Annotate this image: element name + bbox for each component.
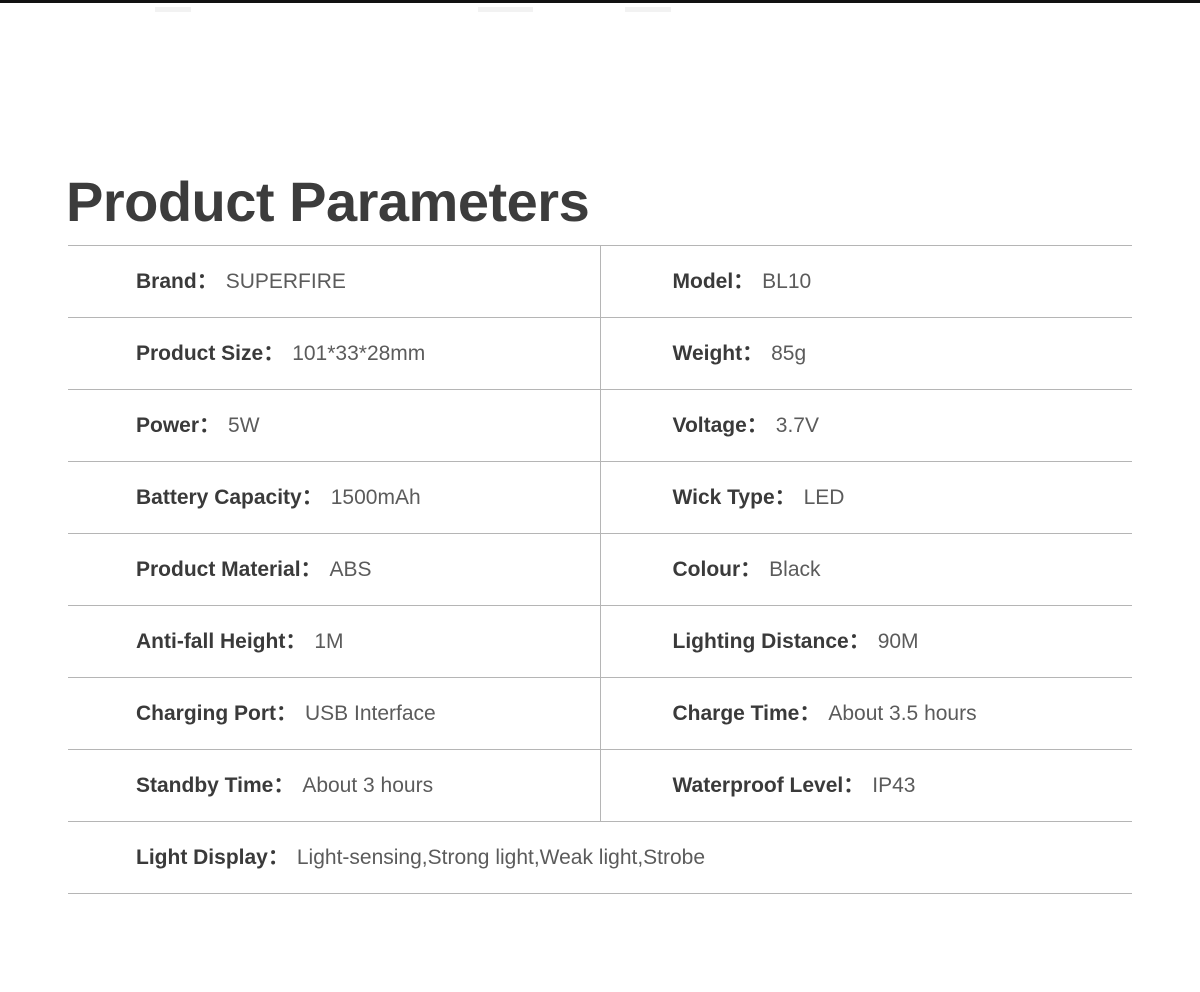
spec-pair: Wick Type：LED <box>673 485 1133 510</box>
spec-cell-charging-port: Charging Port：USB Interface <box>68 678 600 750</box>
spec-colon: ： <box>843 774 872 797</box>
spec-pair: Standby Time：About 3 hours <box>136 773 600 798</box>
spec-pair: Product Material：ABS <box>136 557 600 582</box>
spec-pair: Lighting Distance：90M <box>673 629 1133 654</box>
spec-pair: Light Display：Light-sensing,Strong light… <box>136 845 1132 870</box>
spec-pair: Battery Capacity：1500mAh <box>136 485 600 510</box>
spec-label: Waterproof Level <box>673 774 844 797</box>
spec-label: Anti-fall Height <box>136 630 285 653</box>
spec-colon: ： <box>742 342 771 365</box>
spec-colon: ： <box>268 846 297 869</box>
spec-pair: Weight：85g <box>673 341 1133 366</box>
spec-cell-lighting-distance: Lighting Distance：90M <box>600 606 1132 678</box>
specification-table: Brand：SUPERFIRE Model：BL10 Product Size：… <box>68 245 1132 894</box>
spec-colon: ： <box>263 342 292 365</box>
spec-label: Product Material <box>136 558 301 581</box>
spec-colon: ： <box>740 558 769 581</box>
spec-cell-brand: Brand：SUPERFIRE <box>68 246 600 318</box>
spec-label: Charging Port <box>136 702 276 725</box>
spec-value: Light-sensing,Strong light,Weak light,St… <box>297 846 705 869</box>
spec-value: 90M <box>878 630 919 653</box>
spec-label: Standby Time <box>136 774 273 797</box>
spec-label: Colour <box>673 558 741 581</box>
table-row: Battery Capacity：1500mAh Wick Type：LED <box>68 462 1132 534</box>
spec-colon: ： <box>285 630 314 653</box>
spec-value: 1M <box>314 630 343 653</box>
spec-label: Voltage <box>673 414 747 437</box>
spec-pair: Brand：SUPERFIRE <box>136 269 600 294</box>
table-row: Light Display：Light-sensing,Strong light… <box>68 822 1132 894</box>
spec-colon: ： <box>775 486 804 509</box>
spec-cell-voltage: Voltage：3.7V <box>600 390 1132 462</box>
spec-cell-battery-capacity: Battery Capacity：1500mAh <box>68 462 600 534</box>
spec-cell-weight: Weight：85g <box>600 318 1132 390</box>
spec-cell-wick-type: Wick Type：LED <box>600 462 1132 534</box>
spec-cell-waterproof-level: Waterproof Level：IP43 <box>600 750 1132 822</box>
spec-colon: ： <box>199 414 228 437</box>
spec-label: Weight <box>673 342 743 365</box>
spec-value: 5W <box>228 414 260 437</box>
spec-value: 3.7V <box>776 414 819 437</box>
spec-label: Model <box>673 270 734 293</box>
spec-pair: Model：BL10 <box>673 269 1133 294</box>
spec-pair: Waterproof Level：IP43 <box>673 773 1133 798</box>
spec-colon: ： <box>301 558 330 581</box>
spec-colon: ： <box>799 702 828 725</box>
spec-pair: Anti-fall Height：1M <box>136 629 600 654</box>
spec-colon: ： <box>273 774 302 797</box>
spec-value: LED <box>804 486 845 509</box>
table-row: Power：5W Voltage：3.7V <box>68 390 1132 462</box>
spec-value: ABS <box>330 558 372 581</box>
spec-cell-product-size: Product Size：101*33*28mm <box>68 318 600 390</box>
spec-label: Light Display <box>136 846 268 869</box>
spec-pair: Charging Port：USB Interface <box>136 701 600 726</box>
spec-cell-anti-fall-height: Anti-fall Height：1M <box>68 606 600 678</box>
table-row: Product Material：ABS Colour：Black <box>68 534 1132 606</box>
spec-value: IP43 <box>872 774 915 797</box>
table-row: Standby Time：About 3 hours Waterproof Le… <box>68 750 1132 822</box>
spec-pair: Power：5W <box>136 413 600 438</box>
spec-cell-product-material: Product Material：ABS <box>68 534 600 606</box>
spec-colon: ： <box>733 270 762 293</box>
spec-colon: ： <box>302 486 331 509</box>
spec-colon: ： <box>747 414 776 437</box>
spec-label: Brand <box>136 270 197 293</box>
spec-value: Black <box>769 558 820 581</box>
spec-cell-standby-time: Standby Time：About 3 hours <box>68 750 600 822</box>
spec-cell-colour: Colour：Black <box>600 534 1132 606</box>
spec-value: 1500mAh <box>331 486 421 509</box>
spec-label: Charge Time <box>673 702 800 725</box>
specification-table-body: Brand：SUPERFIRE Model：BL10 Product Size：… <box>68 246 1132 894</box>
spec-value: About 3.5 hours <box>828 702 976 725</box>
page-title: Product Parameters <box>66 171 589 233</box>
table-row: Brand：SUPERFIRE Model：BL10 <box>68 246 1132 318</box>
spec-pair: Voltage：3.7V <box>673 413 1133 438</box>
spec-label: Power <box>136 414 199 437</box>
spec-label: Wick Type <box>673 486 775 509</box>
spec-value: 85g <box>771 342 806 365</box>
spec-label: Lighting Distance <box>673 630 849 653</box>
spec-pair: Charge Time：About 3.5 hours <box>673 701 1133 726</box>
table-row: Anti-fall Height：1M Lighting Distance：90… <box>68 606 1132 678</box>
spec-pair: Colour：Black <box>673 557 1133 582</box>
spec-value: About 3 hours <box>302 774 433 797</box>
product-parameters-page: Product Parameters Brand：SUPERFIRE Model… <box>0 0 1200 992</box>
spec-cell-power: Power：5W <box>68 390 600 462</box>
spec-value: 101*33*28mm <box>292 342 425 365</box>
spec-value: USB Interface <box>305 702 436 725</box>
spec-value: SUPERFIRE <box>226 270 346 293</box>
spec-label: Product Size <box>136 342 263 365</box>
spec-colon: ： <box>849 630 878 653</box>
table-row: Charging Port：USB Interface Charge Time：… <box>68 678 1132 750</box>
spec-cell-charge-time: Charge Time：About 3.5 hours <box>600 678 1132 750</box>
spec-label: Battery Capacity <box>136 486 302 509</box>
spec-cell-model: Model：BL10 <box>600 246 1132 318</box>
spec-pair: Product Size：101*33*28mm <box>136 341 600 366</box>
spec-value: BL10 <box>762 270 811 293</box>
spec-colon: ： <box>276 702 305 725</box>
spec-cell-light-display: Light Display：Light-sensing,Strong light… <box>68 822 1132 894</box>
spec-colon: ： <box>197 270 226 293</box>
table-row: Product Size：101*33*28mm Weight：85g <box>68 318 1132 390</box>
